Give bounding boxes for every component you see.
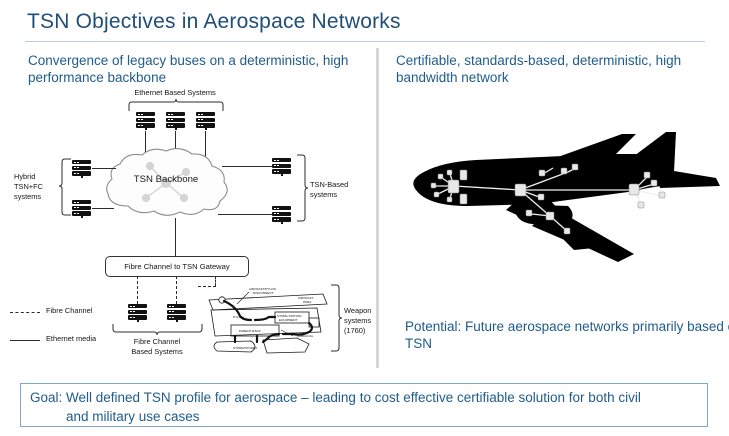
schematic-label-b: DISCONNECT <box>253 291 274 295</box>
bracket-tsn-right <box>296 154 308 226</box>
schematic-label-j: STORE/STORES <box>233 346 257 350</box>
server-hybrid-1 <box>72 160 91 177</box>
left-column-heading: Convergence of legacy buses on a determi… <box>28 52 358 86</box>
fc-drop-1 <box>137 276 138 304</box>
diagram-legend: Fibre Channel Ethernet media <box>10 304 110 350</box>
link-hybrid-2 <box>92 208 114 209</box>
slide-canvas: TSN Objectives in Aerospace Networks Con… <box>0 0 729 436</box>
link-tsn-1 <box>222 166 272 167</box>
link-tsn-2 <box>218 214 272 215</box>
server-ethernet-3 <box>196 112 215 129</box>
server-hybrid-2 <box>72 200 91 217</box>
goal-line-2: and military use cases <box>30 407 706 426</box>
legend-row-ethernet-media: Ethernet media <box>10 332 110 350</box>
weapon-schematic-drawing: AIRCRAFT/PYLON DISCONNECT AIRCRAFT WING … <box>205 284 329 356</box>
schematic-label-g: EQUIPMENT <box>279 318 298 322</box>
server-ethernet-1 <box>136 112 155 129</box>
right-potential-text: Potential: Future aerospace networks pri… <box>405 318 729 352</box>
goal-line-1: Goal: Well defined TSN profile for aeros… <box>30 390 641 405</box>
label-fc-based-line2: Based Systems <box>102 347 212 357</box>
goal-text: Goal: Well defined TSN profile for aeros… <box>30 388 706 426</box>
title-divider <box>25 41 705 42</box>
label-ethernet-based-systems: Ethernet Based Systems <box>110 88 240 98</box>
gateway-box: Fibre Channel to TSN Gateway <box>105 256 249 277</box>
solid-line-icon <box>10 340 40 341</box>
server-fc-2 <box>167 304 186 321</box>
weapon-schematic: AIRCRAFT/PYLON DISCONNECT AIRCRAFT WING … <box>205 284 329 356</box>
legend-label-fibre-channel: Fibre Channel <box>46 306 92 315</box>
fc-drop-2 <box>176 276 177 304</box>
label-weapon-line2: systems <box>344 316 384 326</box>
server-fc-1 <box>128 304 147 321</box>
aircraft-illustration <box>398 128 722 296</box>
server-tsn-1 <box>272 158 291 175</box>
network-diagram: Ethernet Based Systems <box>0 88 376 368</box>
link-hybrid-1 <box>92 168 116 169</box>
page-title: TSN Objectives in Aerospace Networks <box>27 10 401 34</box>
schematic-label-i: UMBILICAL <box>297 334 314 338</box>
schematic-label-e: PYLON <box>233 315 244 319</box>
right-column-heading: Certifiable, standards-based, determinis… <box>396 52 726 86</box>
legend-row-fibre-channel: Fibre Channel <box>10 304 110 322</box>
label-tsn-based-line1: TSN-Based <box>310 180 370 190</box>
label-hybrid-line2: TSN+FC <box>14 182 66 192</box>
gateway-label: Fibre Channel to TSN Gateway <box>124 262 229 271</box>
legend-label-ethernet-media: Ethernet media <box>46 334 96 343</box>
label-fc-based-line1: Fibre Channel <box>102 337 212 347</box>
bracket-fc-bottom <box>112 324 204 336</box>
label-weapon-line3: (1760) <box>344 326 384 336</box>
dashed-line-icon <box>10 312 40 313</box>
label-hybrid-line1: Hybrid <box>14 172 66 182</box>
schematic-label-h: PARENT RACK <box>239 329 262 333</box>
bracket-hybrid-left <box>60 158 72 218</box>
label-tsn-based-line2: systems <box>310 190 370 200</box>
server-ethernet-2 <box>166 112 185 129</box>
label-hybrid-line3: systems <box>14 192 66 202</box>
aircraft-silhouette <box>398 128 722 296</box>
server-tsn-2 <box>272 206 291 223</box>
label-weapon-line1: Weapon <box>344 306 384 316</box>
cloud-label: TSN Backbone <box>100 174 232 185</box>
tsn-backbone-cloud: TSN Backbone <box>100 146 232 220</box>
bracket-ethernet-top <box>128 100 224 112</box>
schematic-label-d: WING <box>303 300 312 304</box>
link-cloud-gateway <box>175 218 176 256</box>
bracket-weapon-right <box>330 284 342 356</box>
